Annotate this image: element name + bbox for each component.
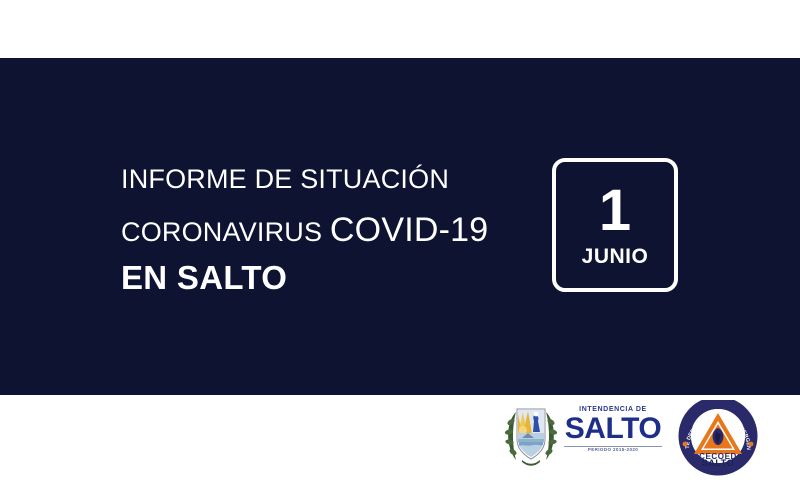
date-badge: 1 JUNIO bbox=[552, 158, 678, 292]
salto-period-subscript: PERIODO 2015-2020 bbox=[564, 446, 662, 453]
salto-coat-of-arms-icon bbox=[502, 402, 560, 468]
slide-canvas: INFORME DE SITUACIÓN CORONAVIRUS COVID-1… bbox=[0, 0, 800, 482]
title-line-informe: INFORME DE SITUACIÓN bbox=[121, 166, 541, 193]
salto-name: SALTO bbox=[564, 414, 662, 444]
title-coronavirus-word: CORONAVIRUS bbox=[121, 217, 330, 247]
logo-row: INTENDENCIA DE SALTO PERIODO 2015-2020 C… bbox=[500, 400, 765, 482]
date-month-label: JUNIO bbox=[582, 245, 649, 269]
cecoed-location-label: SALTO bbox=[672, 458, 764, 468]
date-day-number: 1 bbox=[599, 183, 631, 238]
cecoed-salto-logo: COMITÉ DEPARTAMENTAL DE EMERGENCIAS CECO… bbox=[672, 400, 764, 480]
title-block: INFORME DE SITUACIÓN CORONAVIRUS COVID-1… bbox=[121, 166, 541, 294]
title-line-coronavirus: CORONAVIRUS COVID-19 bbox=[121, 213, 541, 247]
title-covid19-word: COVID-19 bbox=[330, 211, 488, 249]
salto-wordmark: INTENDENCIA DE SALTO PERIODO 2015-2020 bbox=[564, 406, 662, 453]
intendencia-salto-logo: INTENDENCIA DE SALTO PERIODO 2015-2020 bbox=[502, 402, 662, 472]
title-line-en-salto: EN SALTO bbox=[121, 261, 541, 294]
